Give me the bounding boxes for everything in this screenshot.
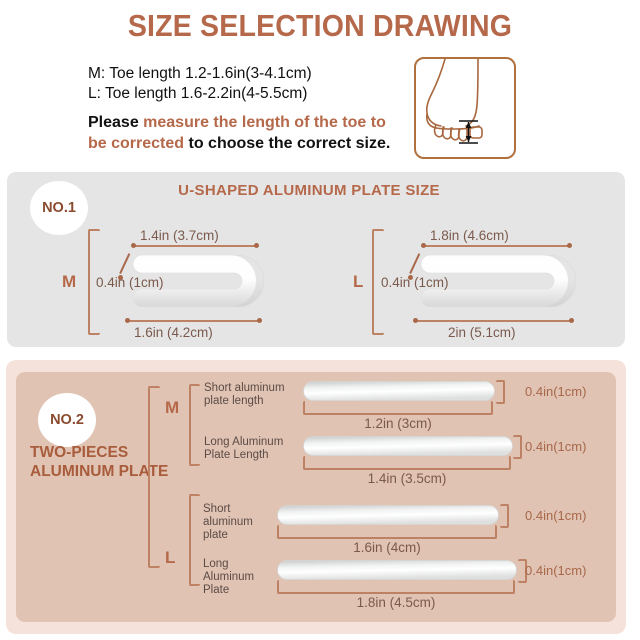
panel1-top-dimline-l [423, 245, 570, 247]
panel1-bottom-dimline-m [127, 320, 260, 322]
panel2-length-bracket [303, 456, 511, 470]
panel1-bottom-dimline-l [415, 320, 572, 322]
panel2-size-label-l: L [165, 548, 175, 568]
panel1-thickness-l: 0.4in (1cm) [381, 275, 449, 290]
panel2-bracket-l [189, 494, 200, 586]
toe-length-l-line: L: Toe length 1.6-2.2in(4-5.5cm) [88, 84, 398, 104]
panel1-size-label-m: M [62, 272, 76, 292]
aluminum-bar-m-short [303, 381, 495, 401]
panel2-length-value: 1.8in (4.5cm) [277, 595, 515, 610]
foot-measure-icon [414, 57, 516, 159]
panel2-length-value: 1.2in (3cm) [303, 416, 493, 431]
panel2-thickness-bracket [500, 504, 509, 528]
page-title: SIZE SELECTION DRAWING [26, 8, 615, 44]
panel1-size-label-l: L [353, 272, 363, 292]
panel2-row-label: Long Aluminum Plate [203, 558, 259, 597]
panel1-top-dim-m: 1.4in (3.7cm) [140, 228, 219, 243]
instruction-pre: Please [88, 114, 143, 131]
panel2-thickness-value: 0.4in(1cm) [525, 563, 586, 578]
panel2-badge: NO.2 [38, 393, 96, 447]
panel1-title: U-SHAPED ALUMINUM PLATE SIZE [0, 182, 618, 199]
panel2-bracket-m [189, 384, 200, 466]
panel1-bottom-dim-m: 1.6in (4.2cm) [134, 325, 213, 340]
panel2-length-value: 1.4in (3.5cm) [303, 471, 511, 486]
panel2-row-label: Short aluminum plate [203, 503, 259, 542]
panel1-top-dimline-m [133, 245, 257, 247]
panel2-length-bracket [277, 580, 515, 594]
panel2-thickness-bracket [496, 380, 505, 404]
aluminum-bar-l-short [277, 505, 499, 525]
panel2-size-label-m: M [165, 398, 179, 418]
aluminum-bar-m-long [303, 436, 513, 456]
panel2-row-label: Short aluminum plate length [204, 382, 300, 408]
panel1-bottom-dim-l: 2in (5.1cm) [448, 325, 516, 340]
panel2-thickness-value: 0.4in(1cm) [525, 508, 586, 523]
instruction-post: to choose the correct size. [184, 135, 390, 152]
panel1-top-dim-l: 1.8in (4.6cm) [430, 228, 509, 243]
aluminum-bar-l-long [277, 560, 517, 580]
panel1-thickness-m: 0.4in (1cm) [96, 275, 164, 290]
panel2-thickness-value: 0.4in(1cm) [525, 439, 586, 454]
toe-length-m-line: M: Toe length 1.2-1.6in(3-4.1cm) [88, 64, 398, 84]
intro-text-block: M: Toe length 1.2-1.6in(3-4.1cm) L: Toe … [88, 64, 398, 154]
panel2-thickness-value: 0.4in(1cm) [525, 384, 586, 399]
panel2-row-label: Long Aluminum Plate Length [204, 436, 300, 462]
panel2-length-bracket [303, 401, 493, 415]
panel2-length-bracket [277, 525, 497, 539]
size-selection-drawing: SIZE SELECTION DRAWING M: Toe length 1.2… [0, 0, 640, 640]
panel2-length-value: 1.6in (4cm) [277, 540, 497, 555]
panel2-thickness-bracket [513, 435, 522, 459]
instruction-paragraph: Please measure the length of the toe to … [88, 113, 398, 154]
panel2-group-bracket [148, 386, 160, 568]
